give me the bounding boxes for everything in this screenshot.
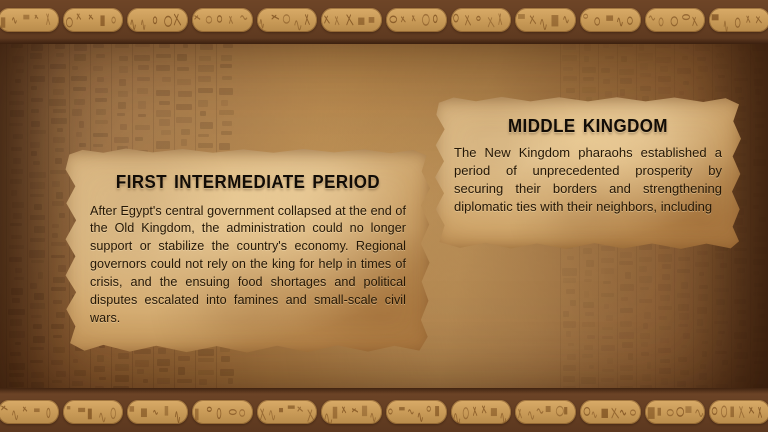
cartouche-nomen-icon xyxy=(0,8,59,32)
ankh-and-bird-icon xyxy=(451,8,512,32)
card-middle-kingdom[interactable]: Middle Kingdom The New Kingdom pharaohs … xyxy=(428,94,748,254)
ankh-and-bird-icon xyxy=(451,400,512,424)
basket-neb-icon xyxy=(321,8,382,32)
seated-figures-icon xyxy=(386,8,447,32)
falcon-and-scarab-icon xyxy=(515,400,576,424)
card-title: First Intermediate Period xyxy=(99,168,396,194)
reed-leaf-icon xyxy=(709,8,768,32)
card-body-text: The New Kingdom pharaohs established a p… xyxy=(454,144,722,217)
card-first-intermediate-period[interactable]: First Intermediate Period After Egypt's … xyxy=(58,146,436,358)
cartouche-prenomen-icon xyxy=(257,8,318,32)
falcon-and-scarab-icon xyxy=(515,8,576,32)
cartouche-royal-icon xyxy=(580,400,641,424)
basket-neb-icon xyxy=(321,400,382,424)
water-ripple-n-icon xyxy=(63,8,124,32)
water-ripple-n-icon xyxy=(63,400,124,424)
bird-pair-icon xyxy=(645,8,706,32)
bird-seated-figure-icon xyxy=(192,400,253,424)
cartouche-nomen-icon xyxy=(0,400,59,424)
reed-leaf-icon xyxy=(709,400,768,424)
seated-figures-icon xyxy=(386,400,447,424)
presentation-slide: First Intermediate Period After Egypt's … xyxy=(0,0,768,432)
hieroglyph-border-top xyxy=(0,0,768,44)
bird-seated-figure-icon xyxy=(192,8,253,32)
card-body-text: After Egypt's central government collaps… xyxy=(90,203,406,328)
bird-pair-icon xyxy=(645,400,706,424)
cartouche-royal-icon xyxy=(580,8,641,32)
reed-stroke-icon xyxy=(127,8,188,32)
reed-stroke-icon xyxy=(127,400,188,424)
card-title: Middle Kingdom xyxy=(462,110,714,137)
hieroglyph-border-bottom xyxy=(0,388,768,432)
cartouche-prenomen-icon xyxy=(257,400,318,424)
